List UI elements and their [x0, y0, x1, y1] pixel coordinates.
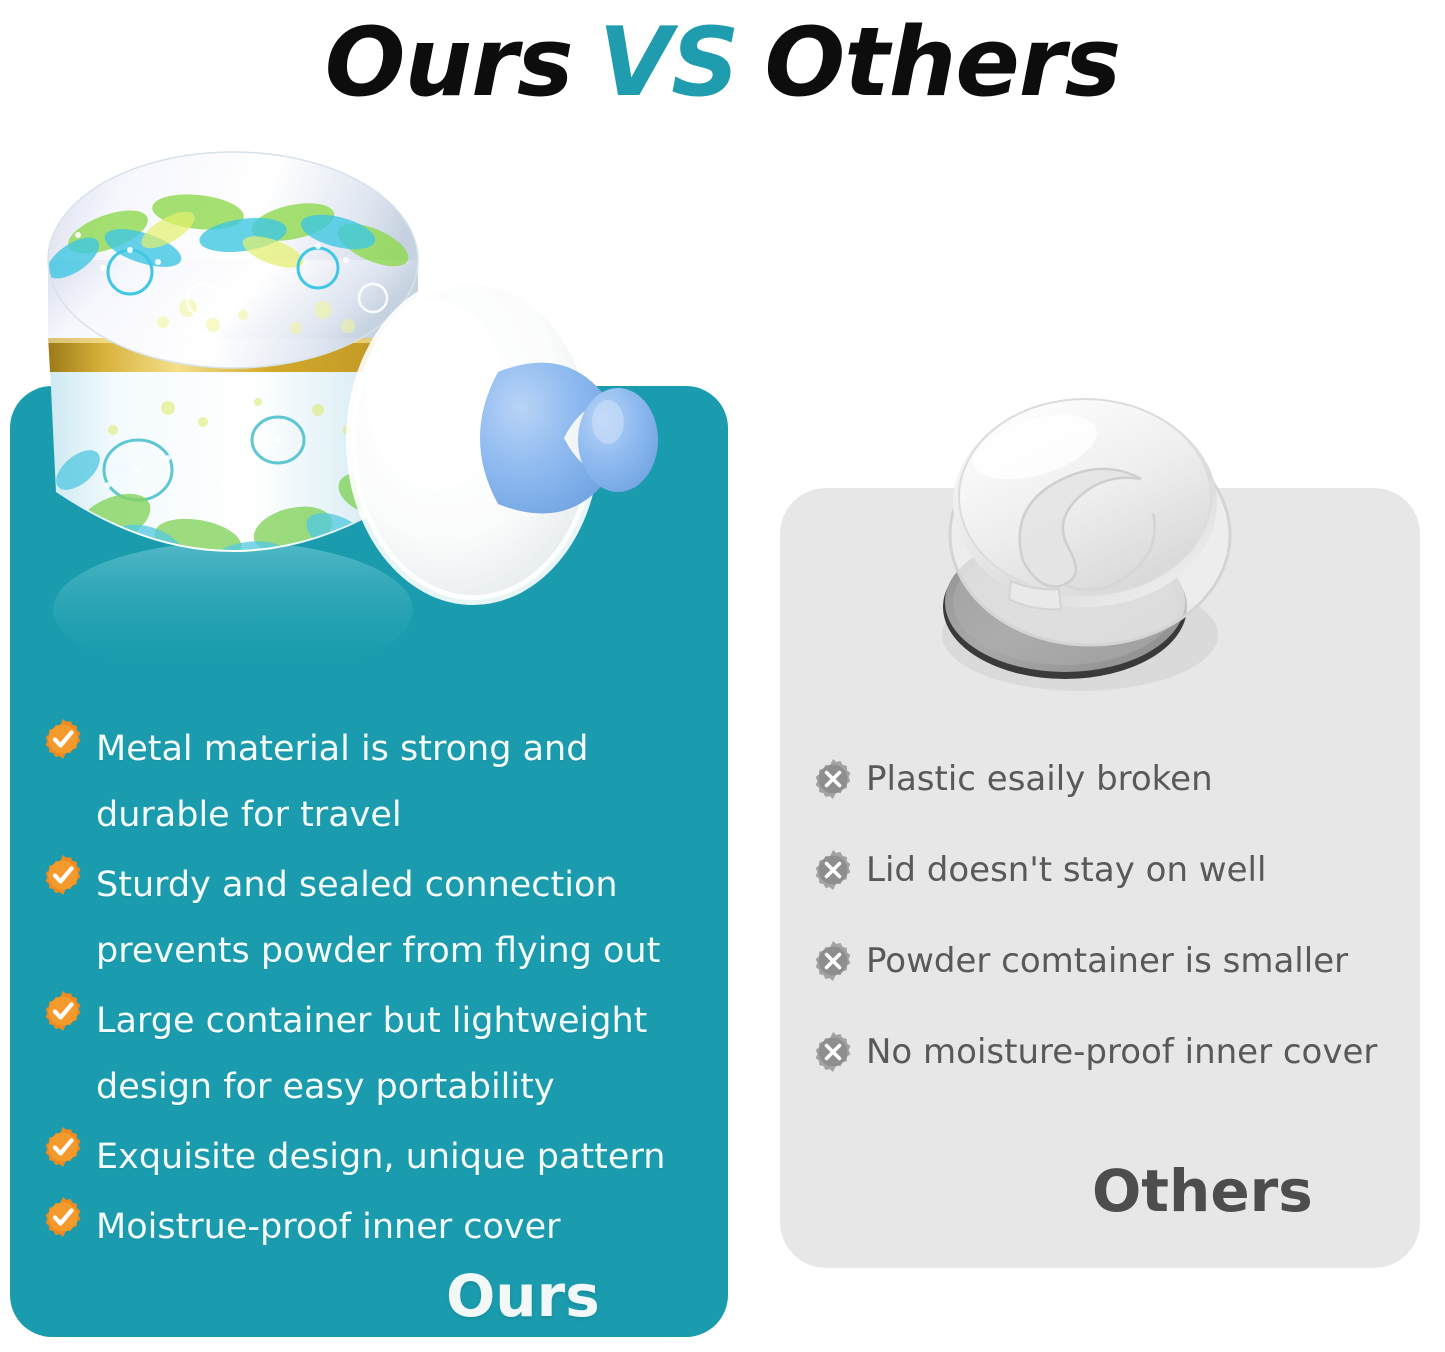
check-badge-icon — [42, 1126, 84, 1168]
others-product-image — [915, 385, 1255, 700]
list-item: Lid doesn't stay on well — [812, 847, 1422, 893]
list-item: Large container but lightweight design f… — [42, 988, 712, 1120]
others-panel-label: Others — [1092, 1157, 1313, 1225]
list-item: Powder comtainer is smaller — [812, 938, 1422, 984]
cross-badge-icon — [812, 940, 854, 982]
title-others: Others — [765, 8, 1121, 118]
list-item-label: No moisture-proof inner cover — [866, 1029, 1377, 1075]
title-vs: VS — [599, 8, 739, 118]
ours-bullet-list: Metal material is strong and durable for… — [42, 716, 712, 1264]
list-item: Exquisite design, unique pattern — [42, 1124, 712, 1190]
ours-product-image — [18, 140, 718, 680]
list-item: Moistrue-proof inner cover — [42, 1194, 712, 1260]
list-item-label: Plastic esaily broken — [866, 756, 1213, 802]
list-item-label: Sturdy and sealed connection prevents po… — [96, 852, 712, 984]
page-title: OursVSOthers — [0, 8, 1445, 118]
title-ours: Ours — [325, 8, 573, 118]
cross-badge-icon — [812, 1031, 854, 1073]
list-item-label: Moistrue-proof inner cover — [96, 1194, 561, 1260]
check-badge-icon — [42, 1196, 84, 1238]
list-item: Plastic esaily broken — [812, 756, 1422, 802]
cross-badge-icon — [812, 849, 854, 891]
check-badge-icon — [42, 718, 84, 760]
list-item-label: Exquisite design, unique pattern — [96, 1124, 665, 1190]
list-item-label: Metal material is strong and durable for… — [96, 716, 712, 848]
cross-badge-icon — [812, 758, 854, 800]
ours-panel-label: Ours — [446, 1262, 600, 1330]
others-bullet-list: Plastic esaily broken Lid doesn't stay o… — [812, 756, 1422, 1120]
list-item: Sturdy and sealed connection prevents po… — [42, 852, 712, 984]
check-badge-icon — [42, 854, 84, 896]
check-badge-icon — [42, 990, 84, 1032]
list-item-label: Powder comtainer is smaller — [866, 938, 1348, 984]
list-item-label: Large container but lightweight design f… — [96, 988, 712, 1120]
list-item: No moisture-proof inner cover — [812, 1029, 1422, 1075]
list-item: Metal material is strong and durable for… — [42, 716, 712, 848]
list-item-label: Lid doesn't stay on well — [866, 847, 1266, 893]
